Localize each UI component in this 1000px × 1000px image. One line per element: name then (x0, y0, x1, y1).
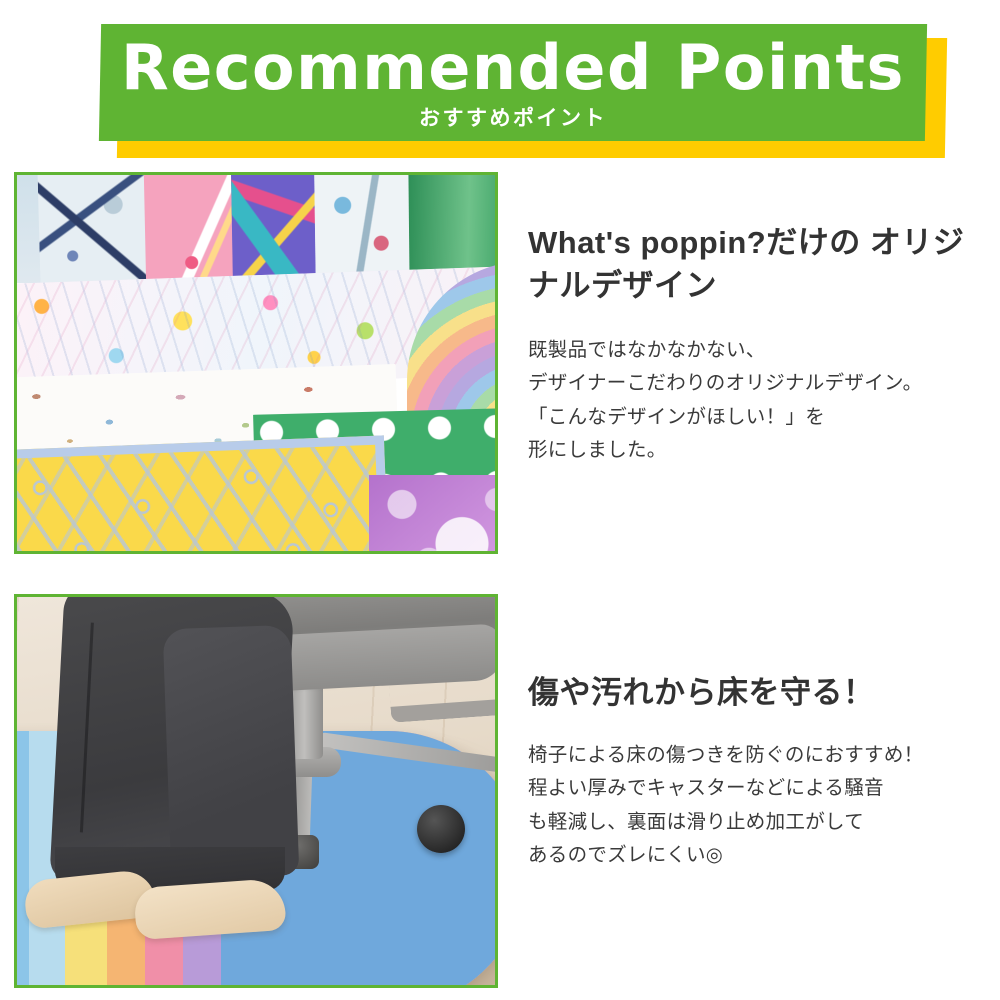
chair-caster-right (417, 805, 465, 853)
mat-swatch-purple-marble (369, 475, 495, 551)
header-banner: Recommended Points おすすめポイント (0, 0, 1000, 170)
mat-swatch-graffiti-blue (37, 175, 150, 290)
banner-green-plate: Recommended Points おすすめポイント (99, 24, 927, 141)
page-title: Recommended Points (121, 37, 905, 99)
slipper-right (133, 878, 286, 940)
squiggle-pattern (17, 445, 381, 551)
mat-swatch-yellow-squiggle (17, 435, 390, 551)
feature-heading: 傷や汚れから床を守る！ (528, 672, 990, 715)
product-photo-patterned-mats (14, 172, 498, 554)
feature-section-floor-protection: 傷や汚れから床を守る！ 椅子による床の傷つきを防ぐのにおすすめ！ 程よい厚みでキ… (0, 594, 1000, 990)
mat-swatch-pink (144, 175, 238, 290)
person-leg-right (163, 625, 300, 879)
feature-text-floor-protection: 傷や汚れから床を守る！ 椅子による床の傷つきを防ぐのにおすすめ！ 程よい厚みでキ… (498, 594, 1000, 990)
feature-text-design: What's poppin?だけの オリジナルデザイン 既製品ではなかなかない、… (498, 172, 1000, 556)
feature-section-design: What's poppin?だけの オリジナルデザイン 既製品ではなかなかない、… (0, 172, 1000, 556)
feature-body: 既製品ではなかなかない、 デザイナーこだわりのオリジナルデザイン。 「こんなデザ… (528, 334, 990, 468)
feature-heading: What's poppin?だけの オリジナルデザイン (528, 222, 990, 308)
feature-body: 椅子による床の傷つきを防ぐのにおすすめ！ 程よい厚みでキャスターなどによる騒音 … (528, 739, 990, 873)
page-subtitle: おすすめポイント (121, 108, 905, 129)
product-photo-chair-on-mat (14, 594, 498, 988)
